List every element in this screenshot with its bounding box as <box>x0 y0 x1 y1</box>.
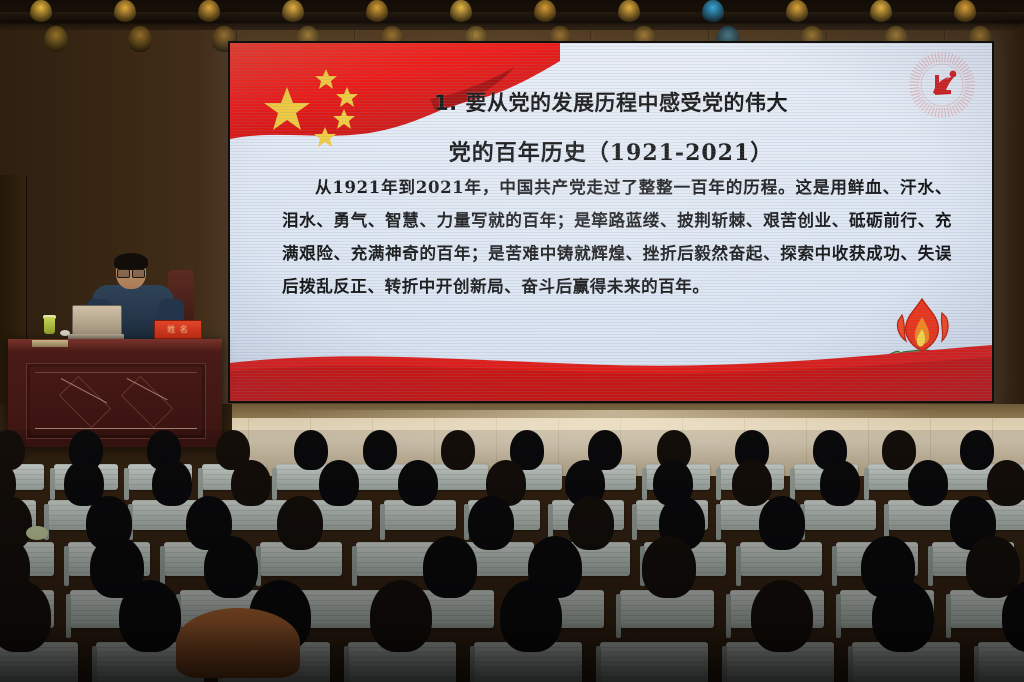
auditorium-seat[interactable] <box>600 642 708 682</box>
stage-light <box>44 26 68 52</box>
podium-front-panel <box>26 363 206 439</box>
audience-member <box>759 496 805 550</box>
lecture-hall-scene: 1. 要从党的发展历程中感受党的伟大 党的百年历史（1921-2021） 从19… <box>0 0 1024 682</box>
audience-member <box>820 460 860 506</box>
seat-arm <box>836 594 841 638</box>
laptop-screen <box>72 305 122 337</box>
seat-arm <box>548 504 553 540</box>
audience-area <box>0 430 1024 682</box>
name-plate: 姓 名 <box>154 320 202 339</box>
stage-light <box>786 0 808 22</box>
stage-light <box>30 0 52 22</box>
seat-arm <box>884 504 889 540</box>
seat-arm <box>66 594 71 638</box>
seat-arm <box>790 468 795 500</box>
seat-arm <box>722 646 727 682</box>
stage-light <box>450 0 472 22</box>
podium-label-plate <box>32 340 68 347</box>
seat-arm <box>160 546 165 586</box>
audience-member <box>152 460 192 506</box>
slide-paragraph: 从1921年到2021年，中国共产党走过了整整一百年的历程。这是用鲜血、汗水、泪… <box>282 171 952 303</box>
audience-member <box>441 430 475 470</box>
audience-member <box>568 496 614 550</box>
seat-arm <box>726 594 731 638</box>
stage-light <box>954 0 976 22</box>
name-plate-text: 姓 名 <box>167 324 189 335</box>
seat-arm <box>344 646 349 682</box>
seat-arm <box>380 504 385 540</box>
seat-arm <box>832 546 837 586</box>
seat-arm <box>352 546 357 586</box>
audience-member <box>732 460 772 506</box>
hair-accessory <box>26 526 48 540</box>
audience-member <box>204 536 258 598</box>
seat-arm <box>596 646 601 682</box>
presenter-hair <box>114 253 148 270</box>
drink-cup <box>44 317 55 334</box>
seat-arm <box>616 594 621 638</box>
slide-title: 1. 要从党的发展历程中感受党的伟大 <box>230 87 992 117</box>
glasses-icon <box>117 269 145 276</box>
seat-arm <box>716 468 721 500</box>
audience-member <box>987 460 1024 506</box>
seat-arm <box>736 546 741 586</box>
seat-arm <box>642 468 647 500</box>
slide-subtitle: 党的百年历史（1921-2021） <box>230 135 992 167</box>
stage-light <box>618 0 640 22</box>
seat-arm <box>272 468 277 500</box>
seat-arm <box>64 546 69 586</box>
desk-object <box>60 330 70 336</box>
seat-arm <box>92 646 97 682</box>
seat-arm <box>928 546 933 586</box>
audience-member <box>294 430 328 470</box>
stage-light <box>128 26 152 52</box>
audience-member <box>960 430 994 470</box>
red-ribbon-graphic <box>230 335 992 401</box>
podium-diamond-right <box>121 376 173 428</box>
audience-member <box>398 460 438 506</box>
seat-arm <box>848 646 853 682</box>
stage-light <box>870 0 892 22</box>
laptop[interactable] <box>68 305 124 339</box>
audience-member <box>500 580 562 652</box>
seat-arm <box>946 594 951 638</box>
slide-body-text: 从1921年到2021年，中国共产党走过了整整一百年的历程。这是用鲜血、汗水、泪… <box>282 171 952 303</box>
stage-light <box>702 0 724 22</box>
stage-light <box>114 0 136 22</box>
orange-cap <box>176 608 300 678</box>
seat-arm <box>470 646 475 682</box>
seat-arm <box>198 468 203 500</box>
audience-member <box>319 460 359 506</box>
audience-member <box>468 496 514 550</box>
audience-member <box>231 460 271 506</box>
audience-member <box>370 580 432 652</box>
seat-arm <box>50 468 55 500</box>
audience-member <box>908 460 948 506</box>
stage-light <box>534 0 556 22</box>
stage-light <box>198 0 220 22</box>
audience-member <box>119 580 181 652</box>
audience-member <box>751 580 813 652</box>
seat-arm <box>716 504 721 540</box>
audience-member <box>277 496 323 550</box>
audience-member <box>363 430 397 470</box>
seat-arm <box>864 468 869 500</box>
audience-member <box>642 536 696 598</box>
seat-arm <box>632 504 637 540</box>
audience-member <box>423 536 477 598</box>
seat-arm <box>124 468 129 500</box>
seat-arm <box>974 646 979 682</box>
audience-member <box>872 580 934 652</box>
audience-member <box>882 430 916 470</box>
presentation-slide[interactable]: 1. 要从党的发展历程中感受党的伟大 党的百年历史（1921-2021） 从19… <box>230 43 992 401</box>
stage-light <box>282 0 304 22</box>
stage-light <box>366 0 388 22</box>
